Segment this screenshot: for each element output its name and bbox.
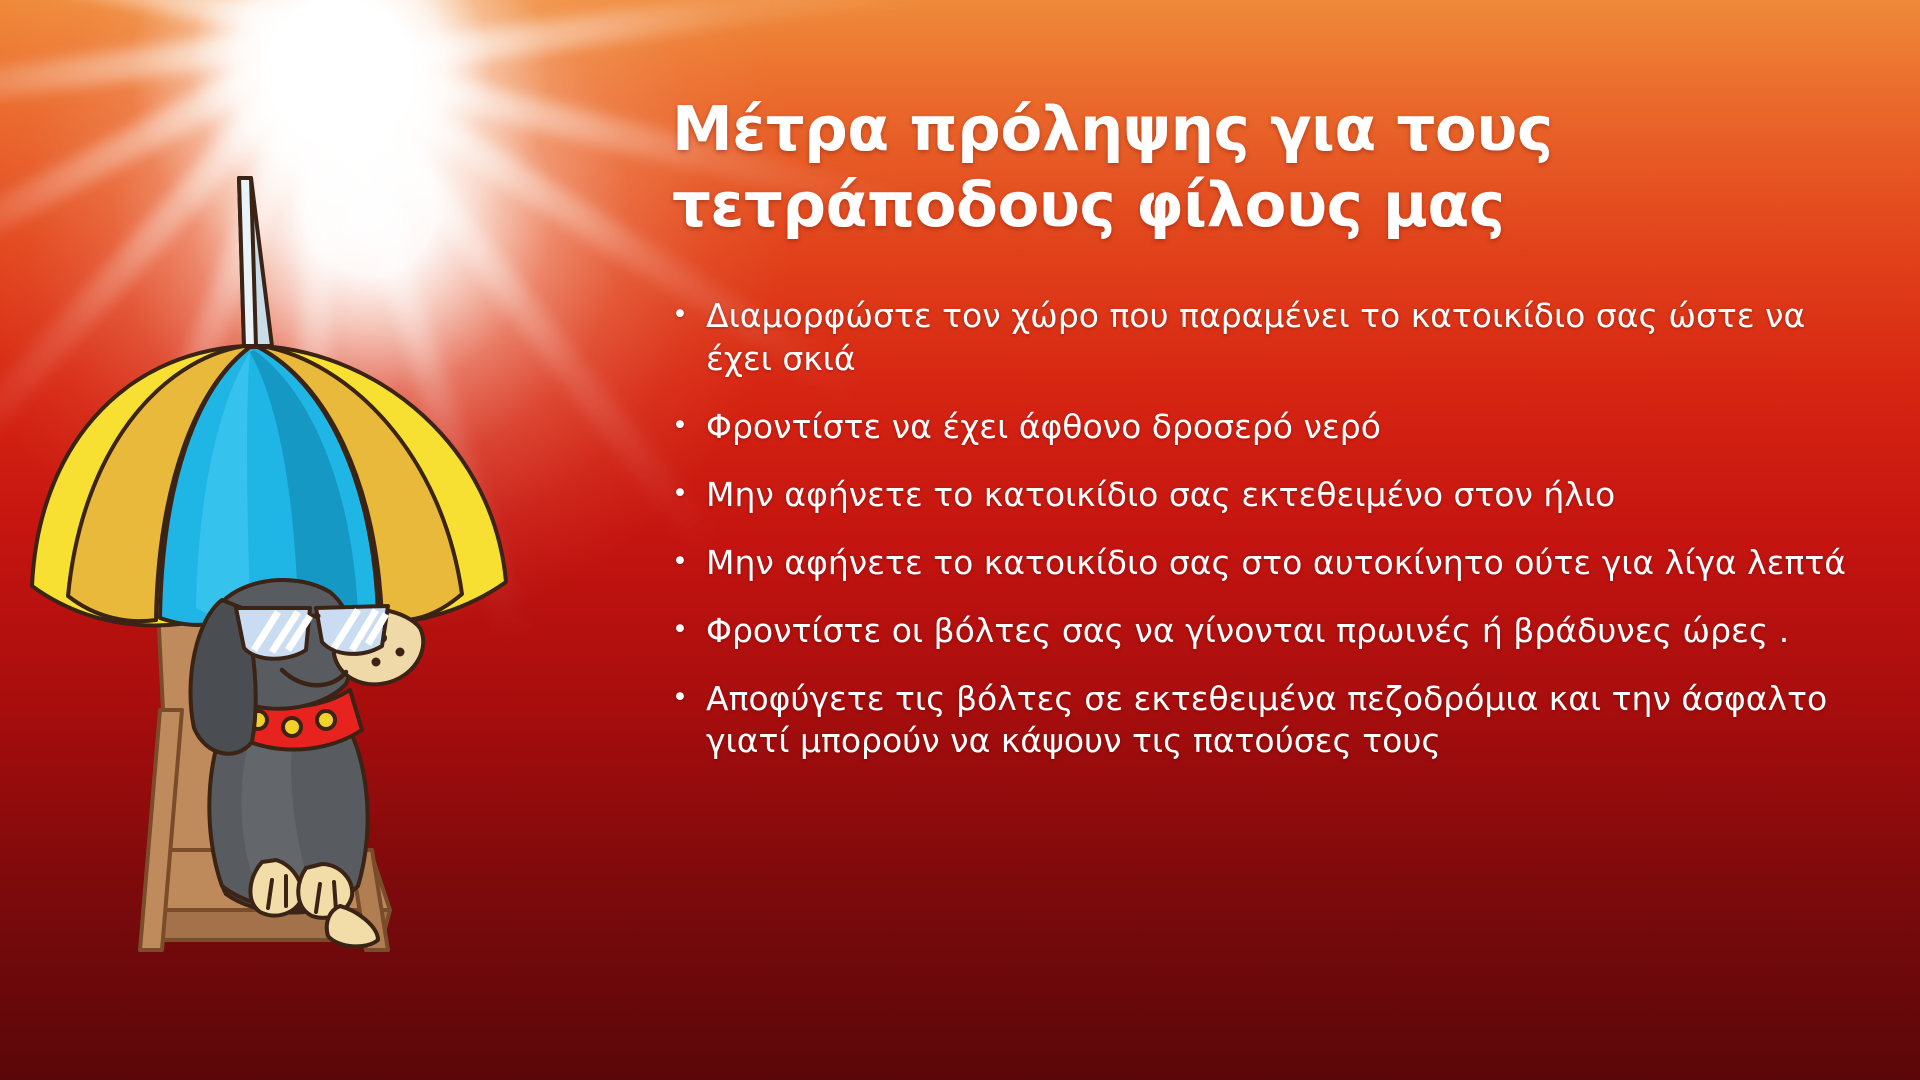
dachshund-dog-icon: [190, 580, 423, 946]
list-item-text: Διαμορφώστε τον χώρο που παραμένει το κα…: [706, 295, 1851, 381]
bullet-marker-icon: •: [672, 542, 706, 579]
list-item-text: Φροντίστε οι βόλτες σας να γίνονται πρωι…: [706, 610, 1851, 653]
bullet-marker-icon: •: [672, 610, 706, 647]
beach-umbrella-icon: [32, 178, 506, 625]
bullet-list: • Διαμορφώστε τον χώρο που παραμένει το …: [672, 295, 1862, 763]
list-item-text: Φροντίστε να έχει άφθονο δροσερό νερό: [706, 406, 1851, 449]
page-title: Μέτρα πρόληψης για τους τετράποδους φίλο…: [672, 92, 1632, 243]
sun-ray-icon: [0, 0, 346, 50]
bullet-marker-icon: •: [672, 295, 706, 332]
bullet-marker-icon: •: [672, 406, 706, 443]
dog-umbrella-illustration: [10, 150, 570, 970]
list-item: • Διαμορφώστε τον χώρο που παραμένει το …: [672, 295, 1862, 381]
list-item: • Μην αφήνετε το κατοικίδιο σας εκτεθειμ…: [672, 474, 1862, 517]
sun-ray-icon: [340, 0, 958, 80]
list-item-text: Μην αφήνετε το κατοικίδιο σας εκτεθειμέν…: [706, 474, 1851, 517]
list-item-text: Μην αφήνετε το κατοικίδιο σας στο αυτοκί…: [706, 542, 1851, 585]
list-item: • Μην αφήνετε το κατοικίδιο σας στο αυτο…: [672, 542, 1862, 585]
list-item: • Φροντίστε να έχει άφθονο δροσερό νερό: [672, 406, 1862, 449]
slide-content: Μέτρα πρόληψης για τους τετράποδους φίλο…: [672, 92, 1862, 788]
list-item: • Φροντίστε οι βόλτες σας να γίνονται πρ…: [672, 610, 1862, 653]
list-item: • Αποφύγετε τις βόλτες σε εκτεθειμένα πε…: [672, 678, 1862, 764]
bullet-marker-icon: •: [672, 474, 706, 511]
bullet-marker-icon: •: [672, 678, 706, 715]
sun-ray-icon: [0, 20, 340, 136]
list-item-text: Αποφύγετε τις βόλτες σε εκτεθειμένα πεζο…: [706, 678, 1851, 764]
slide-canvas: Μέτρα πρόληψης για τους τετράποδους φίλο…: [0, 0, 1920, 1080]
